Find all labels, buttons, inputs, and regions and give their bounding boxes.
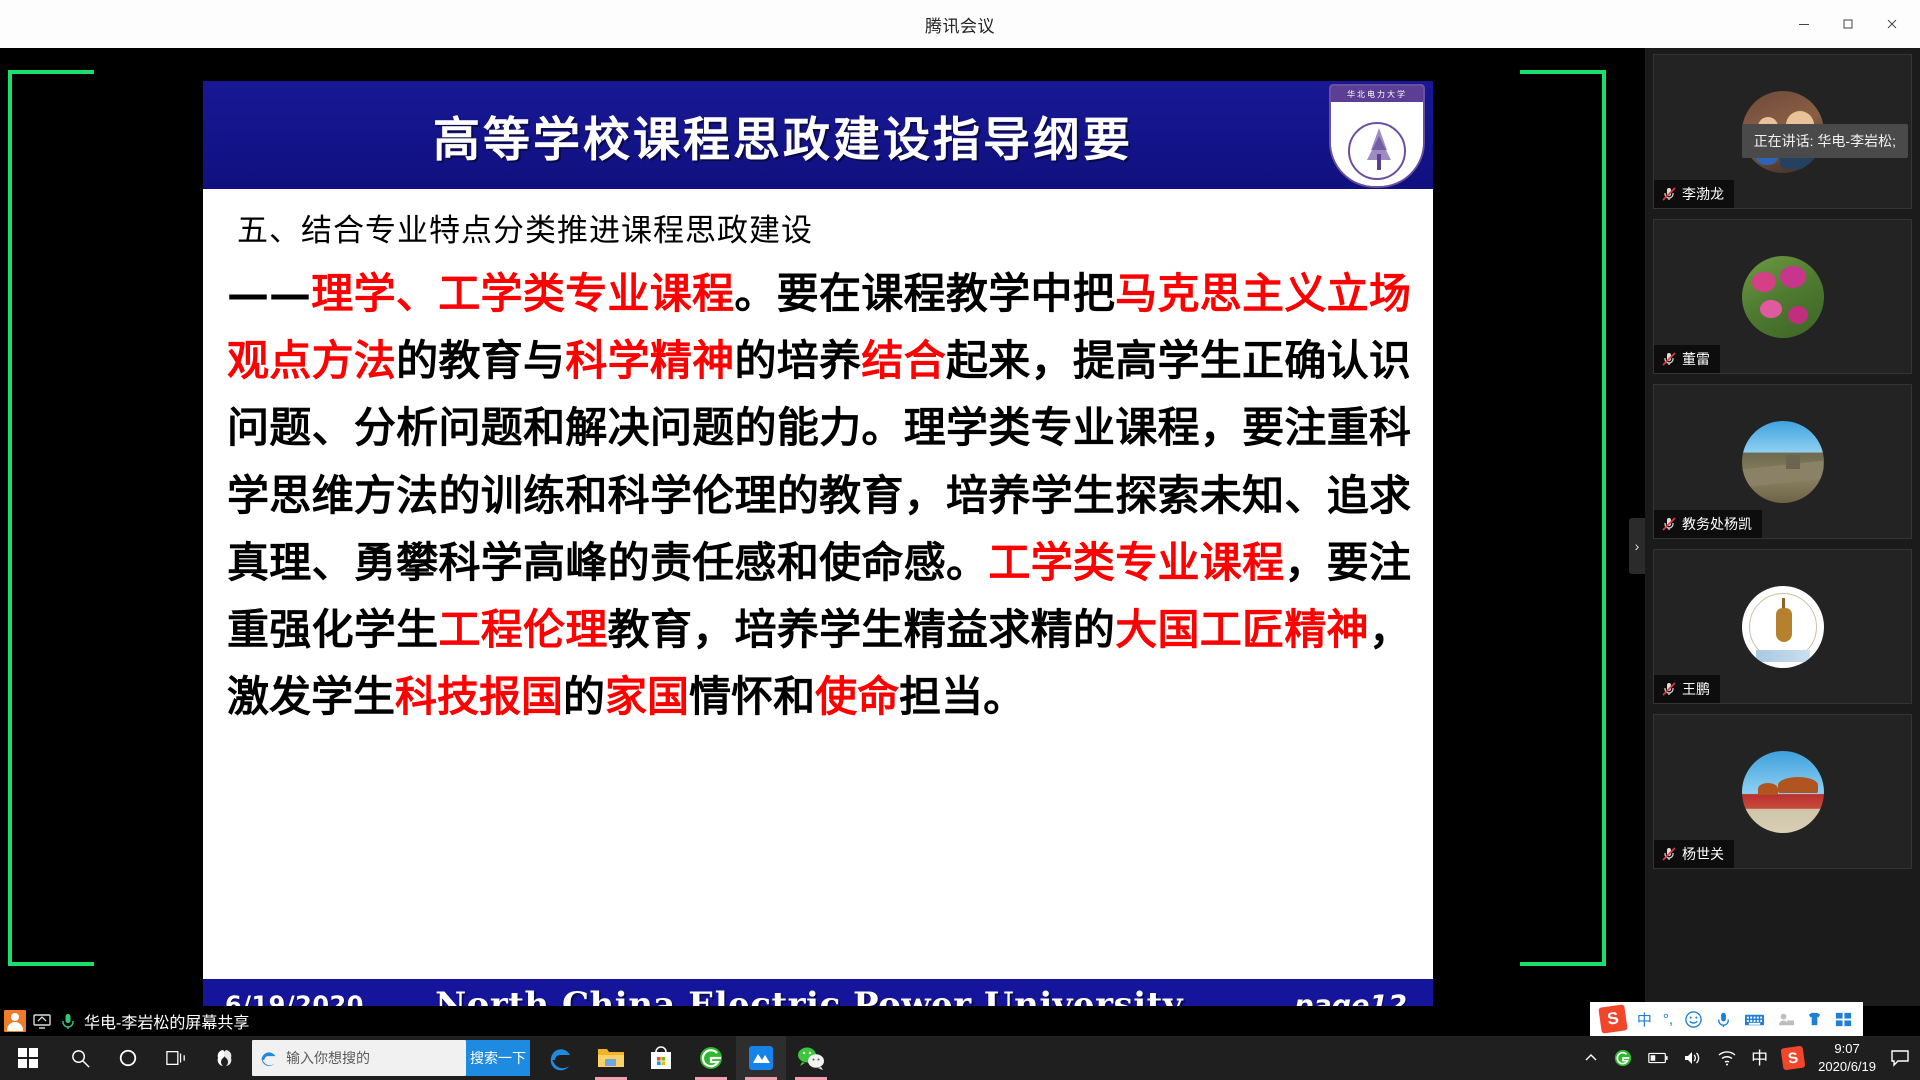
participant-tile[interactable]: 王鹏 <box>1653 549 1912 704</box>
battery-icon[interactable] <box>1647 1050 1669 1066</box>
presentation-slide: 高等学校课程思政建设指导纲要 华北电力大学 五、结合专业特点分类推进课程思政建设 <box>203 81 1433 1031</box>
ime-voice-input-icon[interactable] <box>1714 1010 1733 1029</box>
avatar <box>1742 421 1824 503</box>
participant-name-chip: 董雷 <box>1654 345 1720 373</box>
taskbar-app-file-explorer[interactable] <box>586 1036 636 1080</box>
crest-body <box>1331 102 1423 188</box>
wechat-icon <box>796 1045 826 1071</box>
system-tray: 中 S 9:07 2020/6/19 <box>1583 1040 1920 1075</box>
ime-skin-icon[interactable] <box>1806 1010 1823 1029</box>
microphone-icon[interactable] <box>58 1011 78 1031</box>
ime-chinese-indicator[interactable]: 中 <box>1751 1050 1768 1067</box>
slide-title-bar: 高等学校课程思政建设指导纲要 华北电力大学 <box>203 81 1433 189</box>
mic-muted-icon <box>1661 186 1677 202</box>
wifi-icon[interactable] <box>1717 1049 1737 1067</box>
microsoft-store-icon <box>648 1044 674 1072</box>
participants-panel: 正在讲话: 华电-李岩松; 李渤龙 <box>1645 48 1920 1006</box>
paragraph-run: 教育，培养学生精益求精的 <box>608 605 1116 654</box>
window-title-bar: 腾讯会议 <box>0 0 1920 48</box>
taskbar-app-tencent-meeting[interactable] <box>736 1036 786 1080</box>
participant-name: 董雷 <box>1682 349 1710 369</box>
taskbar-app-wechat[interactable] <box>786 1036 836 1080</box>
taskbar-apps <box>536 1036 836 1080</box>
chevron-up-icon[interactable] <box>1583 1050 1599 1066</box>
paragraph-run: 科学精神 <box>565 336 734 385</box>
360-safe-icon[interactable] <box>1613 1048 1633 1068</box>
edge-browser-icon <box>547 1044 575 1072</box>
share-status-text: 华电-李岩松的屏幕共享 <box>84 1009 249 1033</box>
share-border-corner-top-left <box>8 70 94 156</box>
avatar <box>1742 586 1824 668</box>
paragraph-run: 家国 <box>605 672 689 721</box>
share-border-right <box>1602 70 1606 966</box>
sogou-ime-toolbar[interactable]: S 中 °, <box>1590 1002 1863 1036</box>
share-border-corner-top-right <box>1520 70 1606 156</box>
ime-punctuation-icon[interactable]: °, <box>1663 1011 1673 1028</box>
sogou-ime-tray-icon[interactable]: S <box>1781 1046 1806 1071</box>
participant-name: 杨世关 <box>1682 844 1724 864</box>
paragraph-run: 。要在课程教学中把 <box>734 269 1115 318</box>
speaking-tooltip: 正在讲话: 华电-李岩松; <box>1742 124 1908 158</box>
slide-title: 高等学校课程思政建设指导纲要 <box>433 101 1203 170</box>
search-placeholder: 输入你想搜的 <box>286 1048 370 1068</box>
360-browser-icon <box>697 1044 725 1072</box>
participant-name: 王鹏 <box>1682 679 1710 699</box>
volume-icon[interactable] <box>1683 1049 1703 1067</box>
clock-date: 2020/6/19 <box>1818 1058 1876 1076</box>
paragraph-run: —— <box>227 269 311 318</box>
paragraph-run: 担当。 <box>899 672 1025 721</box>
avatar <box>1742 751 1824 833</box>
taskbar-clock[interactable]: 9:07 2020/6/19 <box>1818 1040 1876 1075</box>
ime-keyboard-icon[interactable] <box>1744 1010 1765 1029</box>
ime-emoji-icon[interactable] <box>1684 1010 1703 1029</box>
user-avatar-icon <box>4 1010 26 1032</box>
university-crest-icon: 华北电力大学 <box>1329 84 1425 188</box>
edge-logo-icon <box>258 1047 280 1069</box>
taskbar-app-edge-browser[interactable] <box>536 1036 586 1080</box>
participant-name-chip: 教务处杨凯 <box>1654 510 1762 538</box>
paragraph-run: 科技报国 <box>395 672 563 721</box>
sogou-logo-icon[interactable]: S <box>1598 1004 1627 1033</box>
paragraph-run: 的培养 <box>735 336 862 385</box>
participant-name: 李渤龙 <box>1682 184 1724 204</box>
participant-tile[interactable]: 杨世关 <box>1653 714 1912 869</box>
taskbar-app-microsoft-store[interactable] <box>636 1036 686 1080</box>
share-border-corner-bottom-right <box>1520 880 1606 966</box>
participant-tile[interactable]: 董雷 <box>1653 219 1912 374</box>
slide-body: 五、结合专业特点分类推进课程思政建设 ——理学、工学类专业课程。要在课程教学中把… <box>203 205 1433 730</box>
minimize-icon[interactable] <box>1782 4 1826 44</box>
windows-start-icon[interactable] <box>0 1036 56 1080</box>
share-border-corner-bottom-left <box>8 880 94 966</box>
paragraph-run: 大国工匠精神 <box>1115 605 1369 654</box>
tencent-meeting-icon <box>747 1044 775 1072</box>
participant-name-chip: 李渤龙 <box>1654 180 1734 208</box>
mic-muted-icon <box>1661 516 1677 532</box>
screen-share-status-bar: 华电-李岩松的屏幕共享 <box>0 1006 1645 1036</box>
window-controls <box>1782 0 1914 48</box>
taskbar-app-360-browser[interactable] <box>686 1036 736 1080</box>
panel-collapse-toggle[interactable]: › <box>1629 518 1645 574</box>
search-icon[interactable] <box>56 1036 104 1080</box>
participant-name-chip: 杨世关 <box>1654 840 1734 868</box>
share-border-left <box>8 70 12 966</box>
shared-screen-stage: 高等学校课程思政建设指导纲要 华北电力大学 五、结合专业特点分类推进课程思政建设 <box>0 48 1645 1006</box>
sogou-browser-icon[interactable] <box>200 1036 248 1080</box>
search-submit-button[interactable]: 搜索一下 <box>466 1040 530 1076</box>
paragraph-run: 理学、工学类专业课程 <box>311 269 734 318</box>
ime-toolbox-icon[interactable] <box>1834 1010 1853 1029</box>
close-icon[interactable] <box>1870 4 1914 44</box>
paragraph-run: 工程伦理 <box>438 605 607 654</box>
avatar <box>1742 256 1824 338</box>
cortana-icon[interactable] <box>104 1036 152 1080</box>
slide-sub-heading: 五、结合专业特点分类推进课程思政建设 <box>237 205 1417 250</box>
maximize-icon[interactable] <box>1826 4 1870 44</box>
clock-time: 9:07 <box>1818 1040 1876 1058</box>
action-center-icon[interactable] <box>1890 1049 1910 1067</box>
paragraph-run: 情怀和 <box>689 672 815 721</box>
mic-muted-icon <box>1661 681 1677 697</box>
mic-muted-icon <box>1661 846 1677 862</box>
window-title: 腾讯会议 <box>925 12 995 37</box>
paragraph-run: 使命 <box>815 672 899 721</box>
participant-name-chip: 王鹏 <box>1654 675 1720 703</box>
ime-mode-chinese-icon[interactable]: 中 <box>1637 1009 1652 1030</box>
slide-paragraph: ——理学、工学类专业课程。要在课程教学中把马克思主义立场观点方法的教育与科学精神… <box>219 260 1417 730</box>
paragraph-run: 工学类专业课程 <box>988 538 1284 587</box>
windows-taskbar: 输入你想搜的 搜索一下 <box>0 1036 1920 1080</box>
screen-share-icon[interactable] <box>32 1011 52 1031</box>
paragraph-run: 结合 <box>861 336 946 385</box>
desktop-root: 腾讯会议 高等学校课程思政建设指导纲要 华北电力大学 <box>0 0 1920 1080</box>
participant-name: 教务处杨凯 <box>1682 514 1752 534</box>
mic-muted-icon <box>1661 351 1677 367</box>
participant-tile[interactable]: 教务处杨凯 <box>1653 384 1912 539</box>
task-view-icon[interactable] <box>152 1036 200 1080</box>
file-explorer-icon <box>596 1045 626 1071</box>
crest-top-text: 华北电力大学 <box>1331 86 1423 102</box>
ime-account-icon[interactable] <box>1776 1010 1795 1029</box>
paragraph-run: 的教育与 <box>396 336 565 385</box>
search-input[interactable]: 输入你想搜的 <box>252 1040 466 1076</box>
paragraph-run: 的 <box>563 672 605 721</box>
